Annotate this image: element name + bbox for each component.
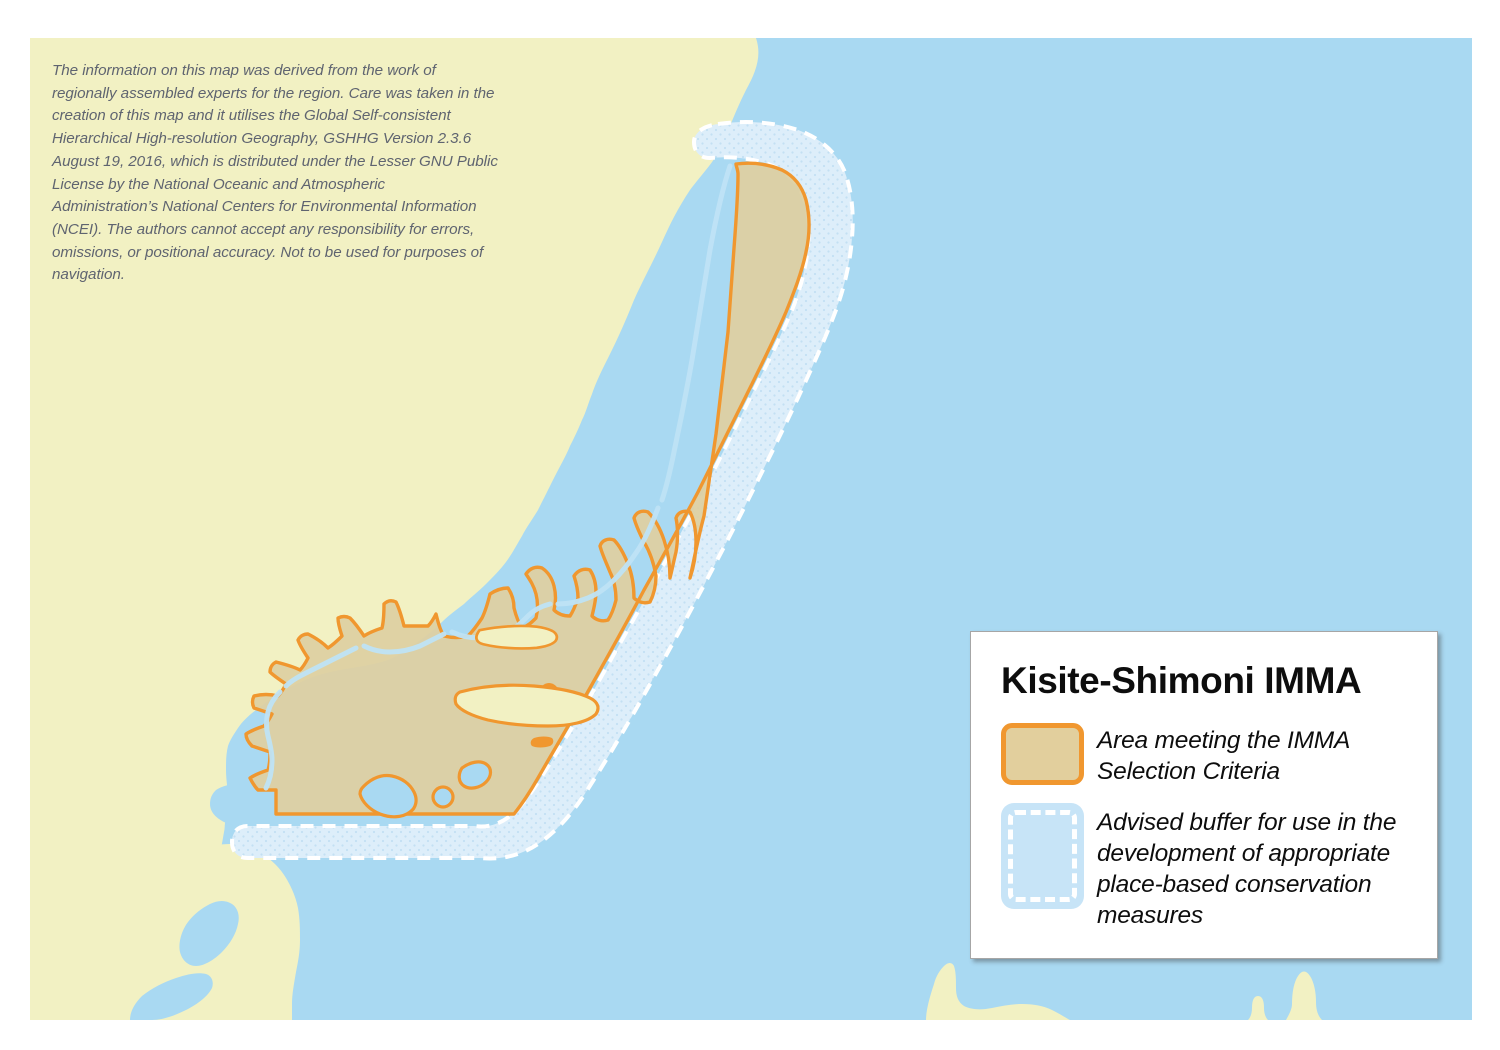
imma-area-swatch-icon [1001,723,1084,785]
lagoon-island-b [433,787,453,807]
legend-row-advised-buffer[interactable]: Advised buffer for use in the developmen… [1001,803,1415,931]
imma-rock-a [531,737,554,748]
legend-swatch-wrap [1001,803,1097,909]
lagoon-island-c [459,762,490,788]
legend-row-imma-area[interactable]: Area meeting the IMMA Selection Criteria [1001,723,1415,787]
legend-swatch-wrap [1001,723,1097,785]
legend-title: Kisite-Shimoni IMMA [1001,662,1415,701]
map-page: The information on this map was derived … [0,0,1500,1050]
legend-label-imma-area: Area meeting the IMMA Selection Criteria [1097,723,1415,787]
advised-buffer-swatch-icon [1001,803,1084,909]
map-legend-panel[interactable]: Kisite-Shimoni IMMA Area meeting the IMM… [970,631,1438,959]
legend-label-advised-buffer: Advised buffer for use in the developmen… [1097,803,1415,931]
map-disclaimer-text: The information on this map was derived … [52,60,552,287]
map-canvas[interactable]: The information on this map was derived … [30,38,1472,1020]
imma-reef-inner [476,626,556,649]
